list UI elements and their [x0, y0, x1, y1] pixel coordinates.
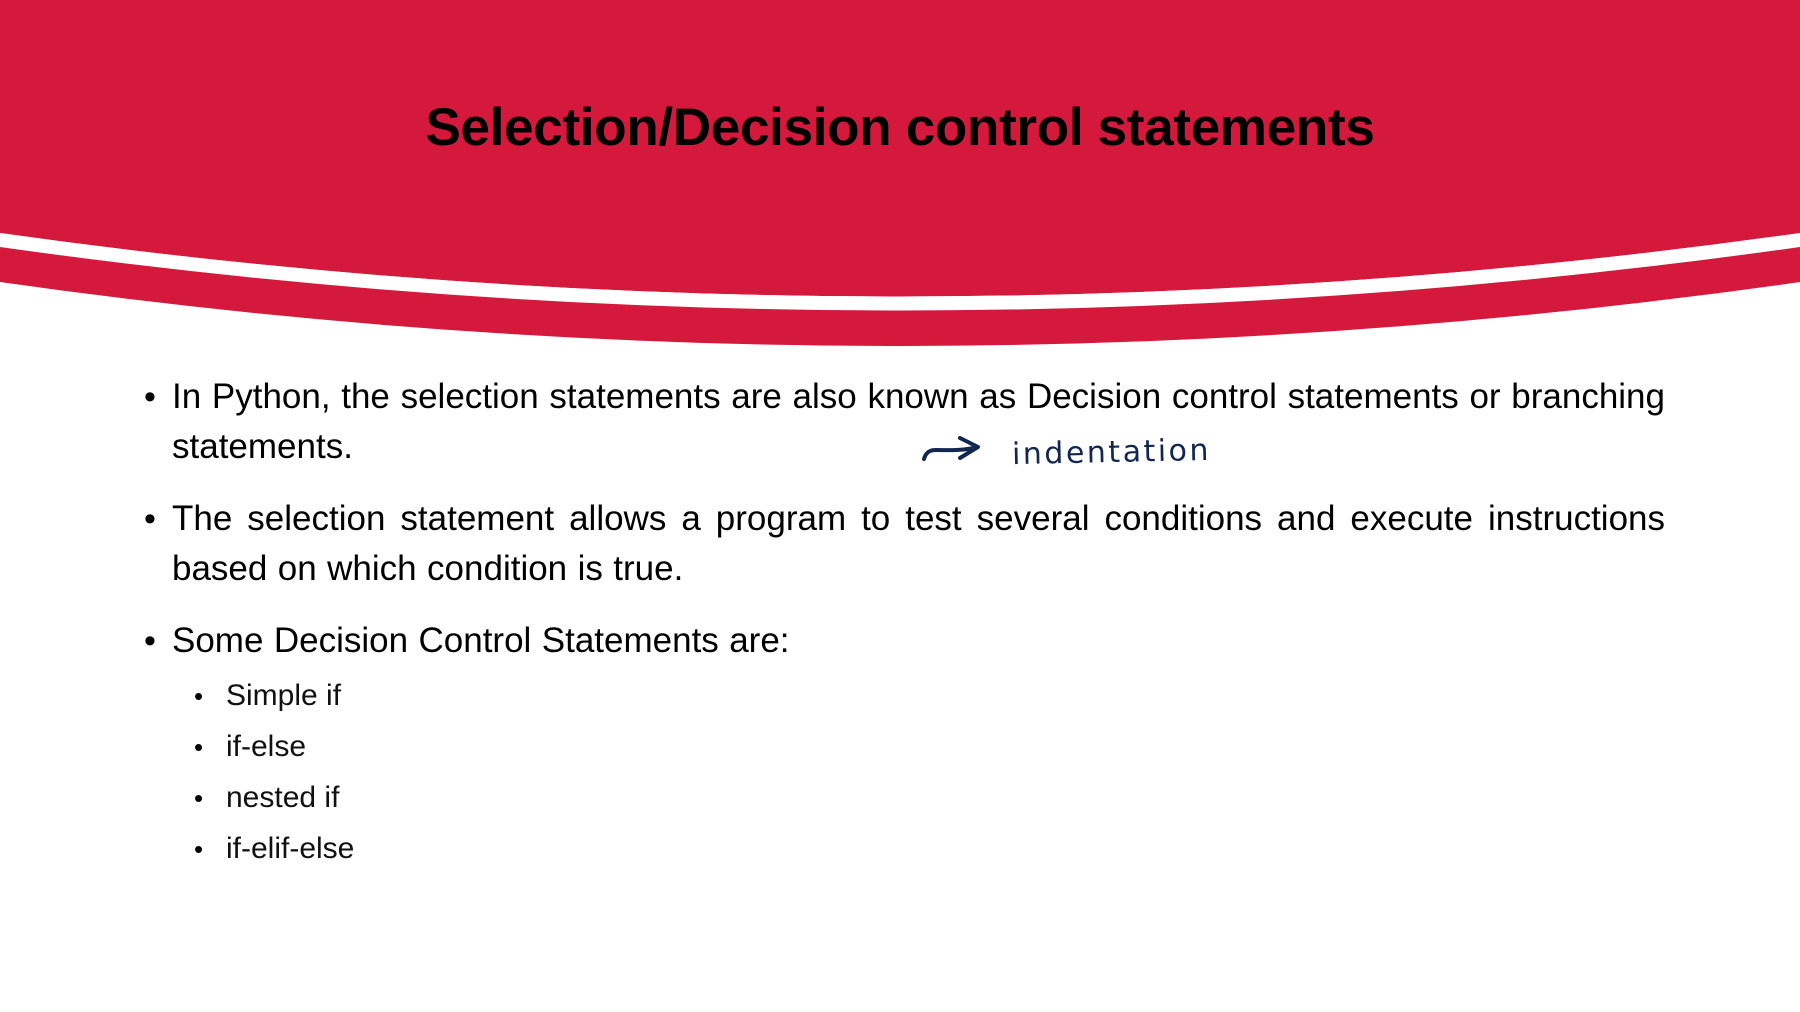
list-item: • if-elif-else: [192, 827, 1800, 871]
sub-bullet-text: if-else: [226, 730, 306, 763]
slide-body: • In Python, the selection statements ar…: [0, 372, 1800, 878]
header-banner: [0, 0, 1800, 400]
list-item: • Simple if: [192, 674, 1800, 718]
main-bullet-list: • In Python, the selection statements ar…: [0, 372, 1800, 666]
bullet-marker-icon: •: [144, 494, 156, 544]
bullet-text: In Python, the selection statements are …: [172, 372, 1665, 472]
list-item: • Some Decision Control Statements are:: [126, 616, 1665, 666]
sub-bullet-marker-icon: •: [194, 725, 203, 769]
sub-bullet-list: • Simple if • if-else • nested if • if-e…: [192, 674, 1800, 871]
bullet-text: Some Decision Control Statements are:: [172, 616, 1665, 666]
slide: Selection/Decision control statements • …: [0, 0, 1800, 1012]
sub-bullet-marker-icon: •: [194, 827, 203, 871]
list-item: • if-else: [192, 725, 1800, 769]
annotation-text: indentation: [1012, 432, 1212, 471]
sub-bullet-text: if-elif-else: [226, 832, 354, 865]
handdrawn-arrow-icon: [920, 432, 1000, 472]
sub-bullet-text: Simple if: [226, 679, 341, 712]
page-title: Selection/Decision control statements: [0, 98, 1800, 159]
sub-bullet-text: nested if: [226, 781, 339, 814]
sub-bullet-marker-icon: •: [194, 674, 203, 718]
list-item: • In Python, the selection statements ar…: [126, 372, 1665, 472]
bullet-marker-icon: •: [144, 616, 156, 666]
banner-white-separator: [0, 233, 1800, 311]
bullet-marker-icon: •: [144, 372, 156, 422]
bullet-text: The selection statement allows a program…: [172, 494, 1665, 594]
handwritten-annotation: indentation: [920, 432, 1211, 472]
banner-accent-sliver: [0, 243, 1800, 346]
list-item: • The selection statement allows a progr…: [126, 494, 1665, 594]
sub-bullet-marker-icon: •: [194, 776, 203, 820]
list-item: • nested if: [192, 776, 1800, 820]
